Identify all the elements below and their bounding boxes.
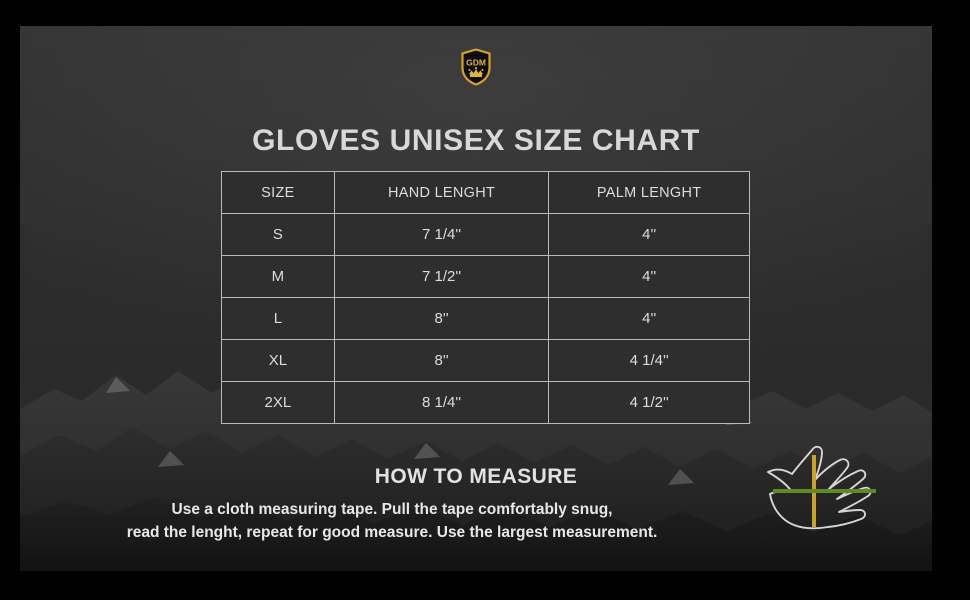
brand-logo: GDM — [20, 48, 932, 86]
cell-size: XL — [222, 340, 335, 382]
cell-size: M — [222, 256, 335, 298]
table-row: XL 8'' 4 1/4'' — [222, 340, 750, 382]
table-row: L 8'' 4'' — [222, 298, 750, 340]
cell-palm-lenght: 4'' — [549, 214, 750, 256]
size-chart-screen: GDM GLOVES UNISEX SIZE CHART SIZE HAND L… — [0, 0, 970, 600]
cell-hand-lenght: 8 1/4'' — [334, 382, 549, 424]
size-chart-table: SIZE HAND LENGHT PALM LENGHT S 7 1/4'' 4… — [221, 171, 750, 424]
cell-size: 2XL — [222, 382, 335, 424]
column-header-size: SIZE — [222, 172, 335, 214]
svg-text:GDM: GDM — [466, 58, 486, 68]
cell-palm-lenght: 4 1/2'' — [549, 382, 750, 424]
gdm-shield-crown-logo-icon: GDM — [460, 48, 492, 86]
instruction-line-1: Use a cloth measuring tape. Pull the tap… — [72, 498, 712, 521]
cell-hand-lenght: 7 1/2'' — [334, 256, 549, 298]
cell-hand-lenght: 8'' — [334, 340, 549, 382]
table-header-row: SIZE HAND LENGHT PALM LENGHT — [222, 172, 750, 214]
cell-hand-lenght: 7 1/4'' — [334, 214, 549, 256]
how-to-measure-instructions: Use a cloth measuring tape. Pull the tap… — [72, 498, 712, 544]
cell-size: L — [222, 298, 335, 340]
cell-hand-lenght: 8'' — [334, 298, 549, 340]
column-header-palm-lenght: PALM LENGHT — [549, 172, 750, 214]
content-panel: GDM GLOVES UNISEX SIZE CHART SIZE HAND L… — [20, 26, 932, 571]
table-row: 2XL 8 1/4'' 4 1/2'' — [222, 382, 750, 424]
table-row: S 7 1/4'' 4'' — [222, 214, 750, 256]
column-header-hand-lenght: HAND LENGHT — [334, 172, 549, 214]
page-title: GLOVES UNISEX SIZE CHART — [20, 124, 932, 158]
cell-palm-lenght: 4'' — [549, 298, 750, 340]
cell-size: S — [222, 214, 335, 256]
cell-palm-lenght: 4'' — [549, 256, 750, 298]
cell-palm-lenght: 4 1/4'' — [549, 340, 750, 382]
table-row: M 7 1/2'' 4'' — [222, 256, 750, 298]
instruction-line-2: read the lenght, repeat for good measure… — [72, 521, 712, 544]
hand-measurement-diagram-icon — [754, 428, 894, 553]
